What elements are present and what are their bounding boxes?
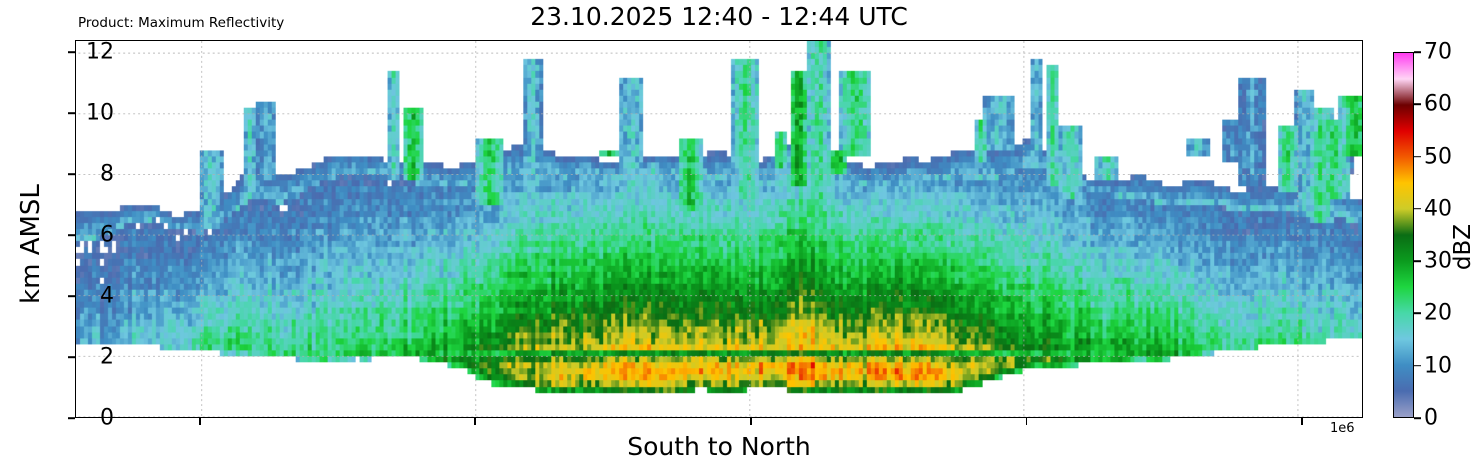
- y-tick-mark: [68, 356, 75, 358]
- y-tick-label: 10: [86, 101, 114, 126]
- colorbar-label: dBZ: [1450, 167, 1476, 327]
- colorbar-tick-label: 70: [1424, 40, 1452, 65]
- y-tick-label: 4: [100, 284, 114, 309]
- reflectivity-heatmap: [76, 41, 1362, 417]
- y-tick-label: 2: [100, 345, 114, 370]
- x-tick-mark: [199, 418, 201, 425]
- colorbar-tick-mark: [1414, 51, 1421, 53]
- x-axis-label: South to North: [75, 432, 1363, 461]
- colorbar-tick-label: 20: [1424, 301, 1452, 326]
- x-tick-mark: [1301, 418, 1303, 425]
- y-tick-mark: [68, 417, 75, 419]
- colorbar-tick-label: 50: [1424, 144, 1452, 169]
- y-tick-label: 0: [100, 406, 114, 431]
- colorbar-tick-mark: [1414, 417, 1421, 419]
- x-axis-offset-text: 1e6: [1330, 421, 1355, 436]
- y-tick-mark: [68, 51, 75, 53]
- colorbar-tick-label: 10: [1424, 353, 1452, 378]
- colorbar-tick-label: 0: [1424, 406, 1438, 431]
- y-tick-label: 6: [100, 223, 114, 248]
- x-tick-mark: [750, 418, 752, 425]
- y-tick-mark: [68, 295, 75, 297]
- x-tick-mark: [1026, 418, 1028, 425]
- colorbar-tick-label: 60: [1424, 92, 1452, 117]
- y-axis-label: km AMSL: [16, 94, 46, 394]
- y-tick-mark: [68, 112, 75, 114]
- colorbar-gradient: [1393, 52, 1414, 418]
- colorbar-tick-mark: [1414, 260, 1421, 262]
- colorbar-tick-label: 40: [1424, 196, 1452, 221]
- y-tick-mark: [68, 173, 75, 175]
- y-tick-label: 8: [100, 162, 114, 187]
- radar-cross-section-figure: 23.10.2025 12:40 - 12:44 UTC Product: Ma…: [0, 0, 1482, 470]
- plot-area: [75, 40, 1363, 418]
- colorbar-tick-mark: [1414, 365, 1421, 367]
- colorbar-tick-mark: [1414, 156, 1421, 158]
- colorbar-tick-mark: [1414, 208, 1421, 210]
- product-label: Product: Maximum Reflectivity: [78, 15, 284, 31]
- colorbar-tick-mark: [1414, 103, 1421, 105]
- y-tick-mark: [68, 234, 75, 236]
- colorbar-tick-mark: [1414, 313, 1421, 315]
- colorbar: [1393, 52, 1414, 418]
- x-tick-mark: [474, 418, 476, 425]
- y-tick-label: 12: [86, 40, 114, 65]
- colorbar-tick-label: 30: [1424, 249, 1452, 274]
